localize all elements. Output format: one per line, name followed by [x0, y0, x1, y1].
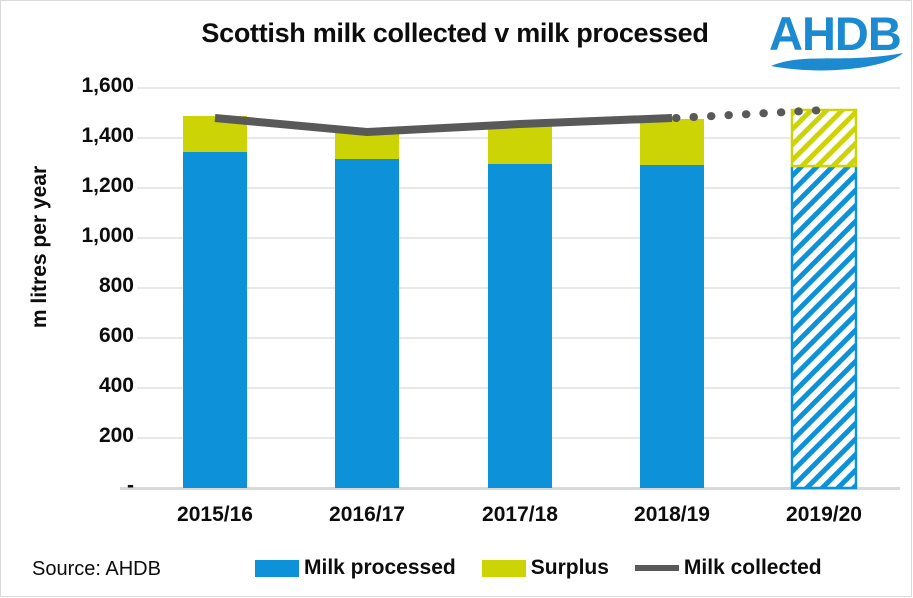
legend-swatch-icon-milk-processed — [255, 560, 299, 577]
bar-group-2018-19 — [640, 119, 704, 488]
bar-processed-2018-19 — [640, 165, 704, 488]
bar-surplus-2017-18 — [488, 124, 552, 164]
ahdb-logo: AHDB — [767, 6, 907, 72]
x-tick-2018-19: 2018/19 — [612, 503, 732, 527]
bar-processed-2017-18 — [488, 164, 552, 488]
legend-label-surplus: Surplus — [531, 556, 609, 580]
y-tick-1400: 1,400 — [38, 124, 134, 148]
legend-label-milk-processed: Milk processed — [304, 556, 456, 580]
legend-item-milk-collected[interactable]: Milk collected — [635, 556, 822, 580]
bar-group-2015-16 — [183, 116, 247, 488]
bar-surplus-2019-20 — [792, 110, 856, 166]
bar-surplus-2016-17 — [335, 133, 399, 159]
chart-footer: Source: AHDB Milk processed Surplus Milk… — [0, 542, 913, 598]
y-tick-800: 800 — [38, 274, 134, 298]
x-tick-2016-17: 2016/17 — [307, 503, 427, 527]
milk-collected-line-forecast — [676, 110, 824, 118]
chart-legend: Milk processed Surplus Milk collected — [255, 556, 822, 580]
y-tick-1600: 1,600 — [38, 74, 134, 98]
source-note: Source: AHDB — [32, 558, 161, 581]
legend-item-milk-processed[interactable]: Milk processed — [255, 556, 456, 580]
y-axis-title: m litres per year — [28, 147, 52, 347]
x-tick-2015-16: 2015/16 — [155, 503, 275, 527]
x-tick-2017-18: 2017/18 — [460, 503, 580, 527]
x-tick-2019-20: 2019/20 — [764, 503, 884, 527]
gridlines — [137, 88, 900, 438]
legend-item-surplus[interactable]: Surplus — [482, 556, 609, 580]
y-tick-200: 200 — [38, 424, 134, 448]
milk-collected-line — [215, 118, 672, 132]
y-tick-1200: 1,200 — [38, 174, 134, 198]
y-tick-600: 600 — [38, 324, 134, 348]
chart-page: Scottish milk collected v milk processed… — [0, 0, 913, 598]
bar-processed-2019-20 — [792, 166, 856, 488]
legend-line-icon-milk-collected — [635, 565, 679, 571]
bar-processed-2016-17 — [335, 159, 399, 488]
y-tick-400: 400 — [38, 374, 134, 398]
svg-text:AHDB: AHDB — [769, 7, 901, 60]
bar-processed-2015-16 — [183, 152, 247, 488]
bar-group-2017-18 — [488, 124, 552, 488]
legend-swatch-icon-surplus — [482, 560, 526, 577]
chart-title: Scottish milk collected v milk processed — [130, 18, 780, 49]
bar-surplus-2015-16 — [183, 116, 247, 152]
y-tick-1000: 1,000 — [38, 224, 134, 248]
bar-surplus-2018-19 — [640, 119, 704, 165]
bar-group-2016-17 — [335, 133, 399, 488]
y-tick-0: - — [38, 474, 134, 498]
bar-group-2019-20 — [792, 110, 856, 488]
legend-label-milk-collected: Milk collected — [684, 556, 822, 580]
